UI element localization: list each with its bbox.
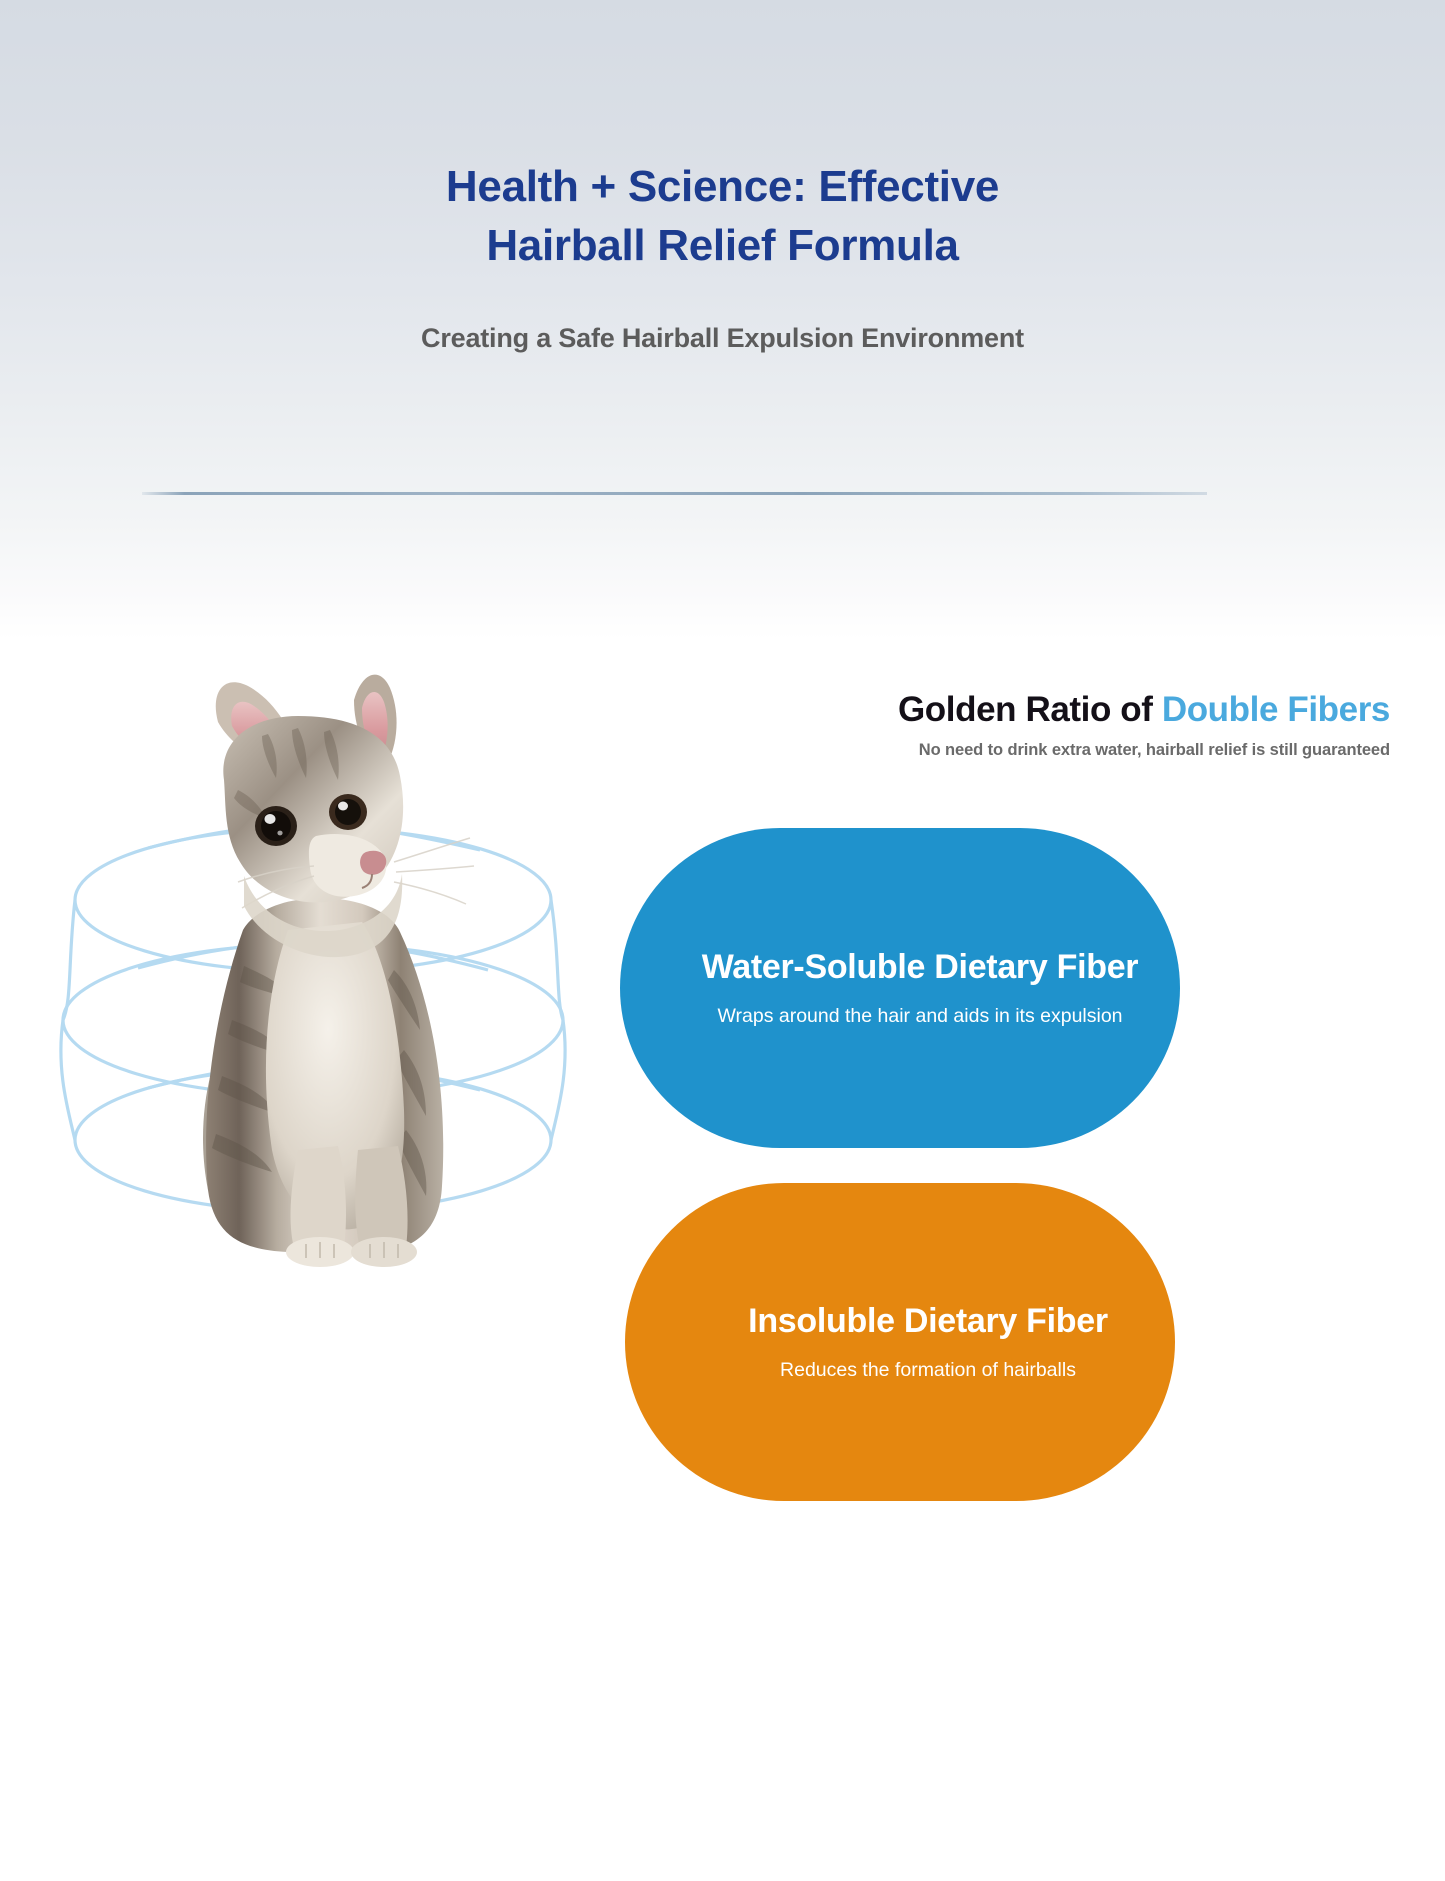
feature-card-title: Insoluble Dietary Fiber: [748, 1302, 1108, 1341]
golden-ratio-subheading: No need to drink extra water, hairball r…: [590, 741, 1390, 760]
page-title-line-1: Health + Science: Effective: [446, 162, 999, 211]
page-header: Health + Science: Effective Hairball Rel…: [0, 0, 1445, 354]
page-subtitle: Creating a Safe Hairball Expulsion Envir…: [0, 323, 1445, 354]
header-divider: [142, 492, 1207, 495]
page-title-line-2: Hairball Relief Formula: [0, 217, 1445, 276]
kitten-illustration: [28, 600, 598, 1300]
feature-card-insoluble-fiber[interactable]: Insoluble Dietary Fiber Reduces the form…: [625, 1183, 1175, 1501]
feature-card-title: Water-Soluble Dietary Fiber: [702, 948, 1139, 987]
kitten-photo: [148, 630, 478, 1270]
feature-heading-block: Golden Ratio of Double Fibers No need to…: [590, 690, 1390, 760]
golden-ratio-heading: Golden Ratio of Double Fibers: [590, 690, 1390, 730]
feature-card-water-soluble-fiber[interactable]: Water-Soluble Dietary Fiber Wraps around…: [620, 828, 1180, 1148]
page-title: Health + Science: Effective Hairball Rel…: [0, 0, 1445, 275]
golden-ratio-heading-accent: Double Fibers: [1162, 690, 1390, 729]
feature-card-description: Wraps around the hair and aids in its ex…: [717, 1005, 1122, 1028]
golden-ratio-heading-plain: Golden Ratio of: [898, 690, 1162, 729]
feature-card-description: Reduces the formation of hairballs: [780, 1359, 1076, 1382]
